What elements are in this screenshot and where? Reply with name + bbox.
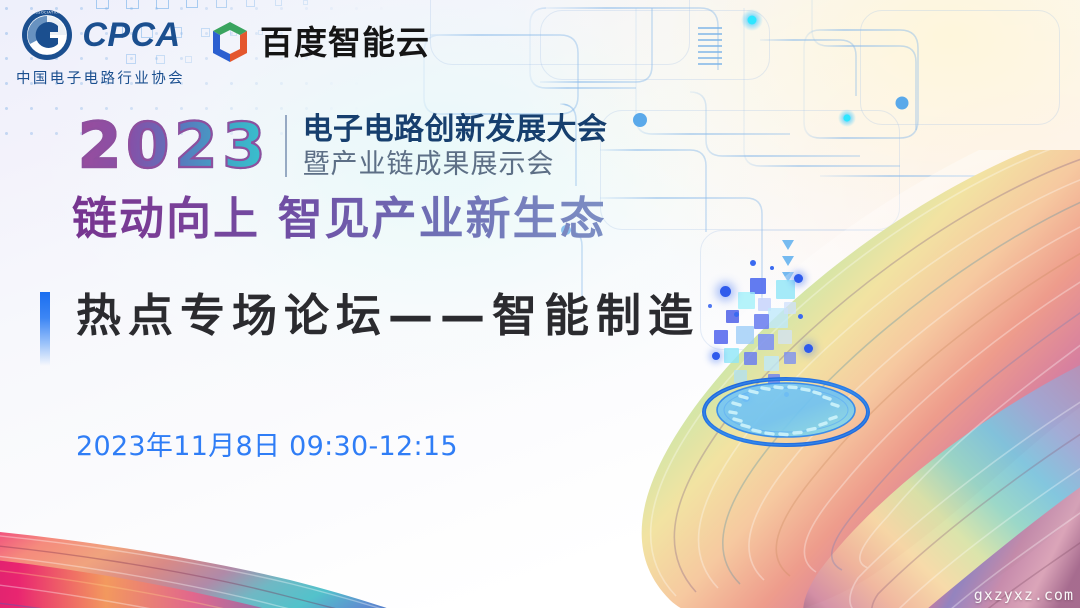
rainbow-ribbon-swirl-icon	[550, 150, 1080, 608]
rainbow-ribbon-wave-icon	[0, 468, 500, 608]
poster-canvas: ASSOCIATION CPCA 中国电子电路行业协会 百度智能云 2023 电…	[0, 0, 1080, 608]
baidu-cloud-logo: 百度智能云	[209, 20, 430, 64]
cpca-logo: ASSOCIATION CPCA 中国电子电路行业协会	[16, 8, 185, 88]
baidu-cloud-cube-icon	[209, 20, 251, 64]
forum-title: 热点专场论坛——智能制造	[76, 288, 700, 344]
ghost-box	[700, 230, 960, 350]
conference-slogan: 链动向上 智见产业新生态	[72, 193, 607, 245]
cpca-wordmark: CPCA	[82, 18, 180, 52]
schedule-datetime: 2023年11月8日 09:30-12:15	[76, 424, 458, 463]
vertical-divider-icon	[285, 115, 287, 177]
cpca-subtitle: 中国电子电路行业协会	[16, 67, 185, 88]
ghost-box	[540, 10, 770, 80]
conference-title-line2: 暨产业链成果展示会	[303, 150, 608, 180]
ghost-box	[860, 10, 1060, 125]
blue-pixel-squares-icon	[706, 252, 836, 402]
conference-title-block: 2023 电子电路创新发展大会 暨产业链成果展示会	[78, 113, 608, 180]
watermark: gxzyxz.com	[974, 586, 1074, 604]
baidu-wordmark: 百度智能云	[260, 26, 430, 59]
conference-year: 2023	[78, 115, 271, 177]
svg-text:ASSOCIATION: ASSOCIATION	[33, 11, 62, 15]
ghost-box	[600, 110, 900, 230]
cpca-circular-emblem-icon: ASSOCIATION	[20, 8, 74, 62]
logo-bar: ASSOCIATION CPCA 中国电子电路行业协会 百度智能云	[16, 8, 430, 88]
ghost-box	[430, 0, 690, 65]
glowing-disc-ring-icon	[700, 372, 872, 448]
forum-title-block: 热点专场论坛——智能制造	[40, 288, 700, 366]
conference-title-line1: 电子电路创新发展大会	[303, 113, 608, 147]
accent-bar-icon	[40, 292, 50, 366]
